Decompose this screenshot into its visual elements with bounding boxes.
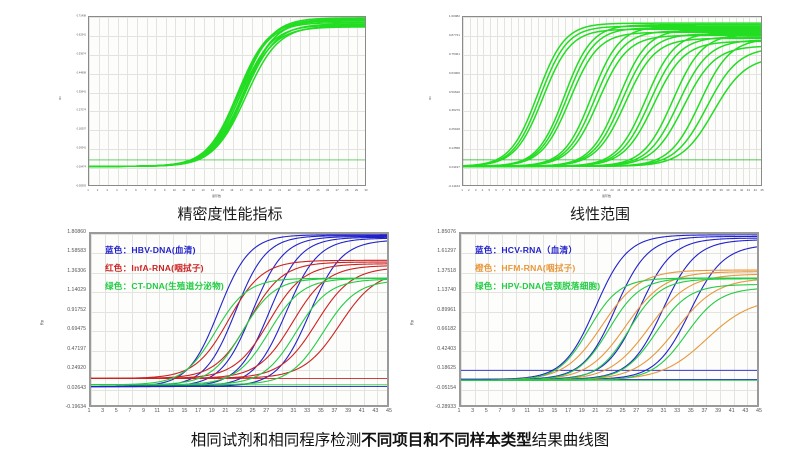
amplification-curve: [89, 26, 365, 166]
x-tick-label: 33: [674, 408, 680, 414]
y-tick-label: 1.80860: [67, 229, 86, 235]
x-tick-label: 29: [647, 408, 653, 414]
x-tick-label: 37: [331, 408, 337, 414]
x-tick-label: 45: [756, 408, 762, 414]
y-tick-label: 1.58583: [67, 248, 86, 254]
x-tick-label: 16: [563, 188, 566, 192]
x-tick-label: 33: [679, 188, 682, 192]
x-tick-label: 45: [386, 408, 392, 414]
panel-multi-sample: 蓝色：HCV-RNA（血清）橙色：HFM-RNA(咽拭子)绿色：HPV-DNA(…: [412, 232, 762, 417]
x-tick-label: 27: [638, 188, 641, 192]
x-tick-label: 27: [263, 408, 269, 414]
x-tick-label: 20: [269, 188, 272, 192]
x-tick-label: 38: [713, 188, 716, 192]
caption-precision: 精密度性能指标: [150, 203, 310, 224]
x-tick-label: 13: [538, 408, 544, 414]
x-tick-label: 3: [471, 408, 474, 414]
x-tick-label: 8: [509, 188, 511, 192]
y-tick-label: 0.18625: [437, 365, 456, 371]
amplification-curve: [463, 41, 761, 166]
y-tick-label: 0.91752: [67, 307, 86, 313]
caption-part-pre: 相同试剂和相同程序检测: [191, 431, 362, 449]
x-tick-label: 15: [221, 188, 224, 192]
amplification-curve: [89, 24, 365, 167]
y-tick-label: -0.05154: [436, 385, 456, 391]
y-tick-label: 0.63000: [449, 71, 460, 75]
x-tick-label: 15: [551, 408, 557, 414]
y-tick-label: 0.42403: [437, 346, 456, 352]
x-tick-label: 15: [181, 408, 187, 414]
y-tick-label: 0.02643: [67, 385, 86, 391]
y-tick-label: -0.11163: [448, 184, 460, 188]
plot-area-multi-sample: 蓝色：HCV-RNA（血清）橙色：HFM-RNA(咽拭子)绿色：HPV-DNA(…: [459, 232, 759, 407]
x-tick-label: 27: [633, 408, 639, 414]
x-tick-label: 20: [590, 188, 593, 192]
x-tick-label: 25: [620, 408, 626, 414]
x-tick-label: 9: [142, 408, 145, 414]
x-tick-label: 42: [740, 188, 743, 192]
x-tick-label: 2: [97, 188, 99, 192]
x-tick-label: 44: [754, 188, 757, 192]
legend-entry: 橙色：HFM-RNA(咽拭子): [475, 262, 600, 274]
x-tick-label: 11: [524, 408, 530, 414]
amplification-curve: [463, 23, 761, 166]
y-tick-label: 0.87721: [449, 33, 460, 37]
plot-area-multi-target: 蓝色：HBV-DNA(血清)红色：InfA-RNA(咽拭子)绿色：CT-DNA(…: [89, 232, 389, 407]
amplification-curve: [89, 18, 365, 166]
x-tick-label: 3: [106, 188, 108, 192]
legend-entry: 绿色：CT-DNA(生殖道分泌物): [105, 280, 224, 292]
x-tick-label: 23: [236, 408, 242, 414]
x-tick-label: 34: [685, 188, 688, 192]
x-tick-label: 23: [297, 188, 300, 192]
legend-entry: 蓝色：HCV-RNA（血清）: [475, 244, 600, 256]
y-axis-labels-multi-target: 1.808601.585831.363061.140290.917520.694…: [50, 232, 86, 407]
legend-entry: 蓝色：HBV-DNA(血清): [105, 244, 224, 256]
caption-part-post: 结果曲线图: [532, 431, 610, 449]
y-tick-label: 0.27074: [77, 109, 86, 112]
panel-linearity: 1.000820.877210.753610.630000.506400.382…: [430, 8, 770, 203]
amplification-curve: [89, 23, 365, 167]
amplification-curve: [461, 306, 757, 380]
x-tick-label: 31: [661, 408, 667, 414]
x-tick-label: 17: [569, 188, 572, 192]
y-axis-title-multi-sample: Rn: [409, 320, 414, 326]
x-tick-label: 9: [512, 408, 515, 414]
x-tick-label: 19: [583, 188, 586, 192]
x-tick-label: 41: [729, 408, 735, 414]
x-axis-labels-precision: 1234567891011121314151617181920212223242…: [88, 188, 366, 198]
y-tick-label: 0.35941: [77, 90, 86, 93]
x-tick-label: 4: [482, 188, 484, 192]
x-tick-label: 31: [665, 188, 668, 192]
amplification-curve: [461, 289, 757, 380]
x-tick-label: 27: [336, 188, 339, 192]
x-tick-label: 37: [706, 188, 709, 192]
y-tick-label: 1.61297: [437, 248, 456, 254]
y-tick-label: 0.44808: [77, 71, 86, 74]
x-tick-label: 7: [498, 408, 501, 414]
amplification-curve: [89, 19, 365, 166]
x-tick-label: 3: [475, 188, 477, 192]
y-tick-label: 0.62541: [77, 33, 86, 36]
y-tick-label: 1.13740: [437, 287, 456, 293]
x-tick-label: 11: [182, 188, 185, 192]
x-tick-label: 25: [317, 188, 320, 192]
x-tick-label: 30: [658, 188, 661, 192]
x-tick-label: 5: [126, 188, 128, 192]
amplification-curve: [463, 26, 761, 166]
y-tick-label: 1.14029: [67, 287, 86, 293]
y-tick-label: -0.19634: [66, 404, 86, 410]
legend-entry: 红色：InfA-RNA(咽拭子): [105, 262, 224, 274]
x-tick-label: 37: [701, 408, 707, 414]
x-axis-labels-multi-target: 1357911131517192123252729313335373941434…: [89, 408, 389, 420]
amplification-curve: [89, 20, 365, 166]
x-tick-label: 28: [345, 188, 348, 192]
x-tick-label: 19: [209, 408, 215, 414]
amplification-curve: [463, 51, 761, 166]
x-tick-label: 39: [715, 408, 721, 414]
x-tick-label: 1: [458, 408, 461, 414]
y-tick-label: 0.89961: [437, 307, 456, 313]
x-tick-label: 1: [461, 188, 463, 192]
figure-page: 0.714080.625410.536740.448080.359410.270…: [0, 0, 800, 470]
y-axis-labels-multi-sample: 1.850761.612971.375181.137400.899610.661…: [418, 232, 456, 407]
x-tick-label: 21: [592, 408, 598, 414]
x-tick-label: 17: [240, 188, 243, 192]
y-tick-label: 0.18207: [77, 128, 86, 131]
x-tick-label: 17: [565, 408, 571, 414]
x-tick-label: 10: [173, 188, 176, 192]
x-tick-label: 8: [154, 188, 156, 192]
x-tick-label: 24: [617, 188, 620, 192]
x-tick-label: 12: [535, 188, 538, 192]
x-tick-label: 21: [597, 188, 600, 192]
x-tick-label: 9: [164, 188, 166, 192]
x-tick-label: 35: [318, 408, 324, 414]
x-tick-label: 39: [719, 188, 722, 192]
y-axis-title-linearity: Rn: [428, 96, 432, 100]
x-tick-label: 2: [468, 188, 470, 192]
x-tick-label: 36: [699, 188, 702, 192]
x-tick-label: 16: [230, 188, 233, 192]
y-tick-label: 0.53674: [77, 52, 86, 55]
x-tick-label: 7: [145, 188, 147, 192]
y-tick-label: 0.66182: [437, 326, 456, 332]
x-tick-label: 14: [211, 188, 214, 192]
legend-multi-target: 蓝色：HBV-DNA(血清)红色：InfA-RNA(咽拭子)绿色：CT-DNA(…: [105, 244, 224, 298]
y-tick-label: 0.01197: [449, 165, 460, 169]
plot-area-linearity: [462, 16, 762, 186]
x-tick-label: 43: [742, 408, 748, 414]
plot-area-precision: [88, 16, 366, 186]
x-tick-label: 15: [556, 188, 559, 192]
x-axis-labels-multi-sample: 1357911131517192123252729313335373941434…: [459, 408, 759, 420]
x-tick-label: 11: [529, 188, 532, 192]
y-axis-title-precision: Rn: [58, 96, 62, 100]
x-tick-label: 5: [488, 188, 490, 192]
x-tick-label: 7: [128, 408, 131, 414]
x-axis-labels-linearity: 1234567891011121314151617181920212223242…: [462, 188, 762, 198]
amplification-curve: [463, 26, 761, 166]
x-tick-label: 19: [259, 188, 262, 192]
amplification-curve: [89, 25, 365, 166]
x-tick-label: 30: [364, 188, 367, 192]
x-tick-label: 9: [516, 188, 518, 192]
amplification-curve: [463, 35, 761, 166]
figure-main-caption: 相同试剂和相同程序检测不同项目和不同样本类型结果曲线图: [0, 428, 800, 450]
y-tick-label: 0.24920: [67, 365, 86, 371]
x-tick-label: 18: [249, 188, 252, 192]
x-tick-label: 10: [522, 188, 525, 192]
y-tick-label: 0.00474: [77, 166, 86, 169]
x-tick-label: 45: [760, 188, 763, 192]
y-tick-label: 0.69475: [67, 326, 86, 332]
amplification-curve: [463, 25, 761, 167]
x-tick-label: 22: [604, 188, 607, 192]
x-tick-label: 21: [278, 188, 281, 192]
x-tick-label: 41: [733, 188, 736, 192]
x-tick-label: 13: [542, 188, 545, 192]
y-axis-title-multi-target: Rn: [39, 320, 44, 326]
x-tick-label: 18: [576, 188, 579, 192]
x-tick-label: 33: [304, 408, 310, 414]
x-axis-title-linearity: 循环数: [602, 194, 611, 198]
x-tick-label: 32: [672, 188, 675, 192]
amplification-curve: [89, 27, 365, 166]
x-tick-label: 19: [579, 408, 585, 414]
y-tick-label: 0.50640: [449, 90, 460, 94]
x-tick-label: 28: [644, 188, 647, 192]
y-tick-label: -0.28933: [436, 404, 456, 410]
x-tick-label: 6: [135, 188, 137, 192]
x-tick-label: 7: [502, 188, 504, 192]
x-tick-label: 35: [688, 408, 694, 414]
y-tick-label: 1.36306: [67, 268, 86, 274]
y-tick-label: 0.75361: [449, 52, 460, 56]
amplification-curve: [463, 38, 761, 166]
curves-linearity: [463, 17, 761, 185]
x-tick-label: 14: [549, 188, 552, 192]
x-tick-label: 43: [372, 408, 378, 414]
y-tick-label: 1.85076: [437, 229, 456, 235]
y-tick-label: 0.71408: [77, 15, 86, 18]
y-tick-label: 1.37518: [437, 268, 456, 274]
caption-linearity: 线性范围: [540, 203, 660, 224]
x-tick-label: 1: [87, 188, 89, 192]
x-tick-label: 25: [624, 188, 627, 192]
x-tick-label: 26: [326, 188, 329, 192]
x-tick-label: 12: [192, 188, 195, 192]
x-tick-label: 43: [747, 188, 750, 192]
legend-entry: 绿色：HPV-DNA(宫颈脱落细胞): [475, 280, 600, 292]
x-tick-label: 11: [154, 408, 160, 414]
y-tick-label: 1.00082: [449, 14, 460, 18]
x-tick-label: 13: [168, 408, 174, 414]
x-tick-label: 31: [291, 408, 297, 414]
curves-precision: [89, 17, 365, 185]
x-tick-label: 29: [277, 408, 283, 414]
x-axis-title-precision: 循环数: [212, 194, 221, 198]
legend-multi-sample: 蓝色：HCV-RNA（血清）橙色：HFM-RNA(咽拭子)绿色：HPV-DNA(…: [475, 244, 600, 298]
caption-part-bold: 不同项目和不同样本类型: [361, 431, 532, 449]
y-tick-label: 0.25918: [449, 127, 460, 131]
x-tick-label: 40: [726, 188, 729, 192]
x-tick-label: 39: [345, 408, 351, 414]
y-axis-labels-precision: 0.714080.625410.536740.448080.359410.270…: [60, 16, 86, 186]
x-tick-label: 17: [195, 408, 201, 414]
amplification-curve: [463, 37, 761, 167]
y-tick-label: -0.08393: [76, 185, 86, 188]
amplification-curve: [89, 19, 365, 166]
x-tick-label: 6: [495, 188, 497, 192]
y-tick-label: 0.09341: [77, 147, 86, 150]
x-tick-label: 1: [88, 408, 91, 414]
y-axis-labels-linearity: 1.000820.877210.753610.630000.506400.382…: [430, 16, 460, 186]
x-tick-label: 29: [355, 188, 358, 192]
x-tick-label: 35: [692, 188, 695, 192]
x-tick-label: 24: [307, 188, 310, 192]
x-tick-label: 13: [201, 188, 204, 192]
x-tick-label: 5: [115, 408, 118, 414]
x-tick-label: 26: [631, 188, 634, 192]
x-tick-label: 3: [101, 408, 104, 414]
x-tick-label: 22: [288, 188, 291, 192]
amplification-curve: [89, 21, 365, 166]
x-tick-label: 5: [485, 408, 488, 414]
y-tick-label: 0.13558: [449, 146, 460, 150]
y-tick-label: 0.47197: [67, 346, 86, 352]
x-tick-label: 29: [651, 188, 654, 192]
panel-multi-target: 蓝色：HBV-DNA(血清)红色：InfA-RNA(咽拭子)绿色：CT-DNA(…: [42, 232, 392, 417]
x-tick-label: 23: [610, 188, 613, 192]
x-tick-label: 25: [250, 408, 256, 414]
amplification-curve: [463, 34, 761, 166]
panel-precision: 0.714080.625410.536740.448080.359410.270…: [60, 8, 390, 203]
x-tick-label: 21: [222, 408, 228, 414]
x-tick-label: 23: [606, 408, 612, 414]
y-tick-label: 0.38279: [449, 108, 460, 112]
x-tick-label: 41: [359, 408, 365, 414]
x-tick-label: 4: [116, 188, 118, 192]
